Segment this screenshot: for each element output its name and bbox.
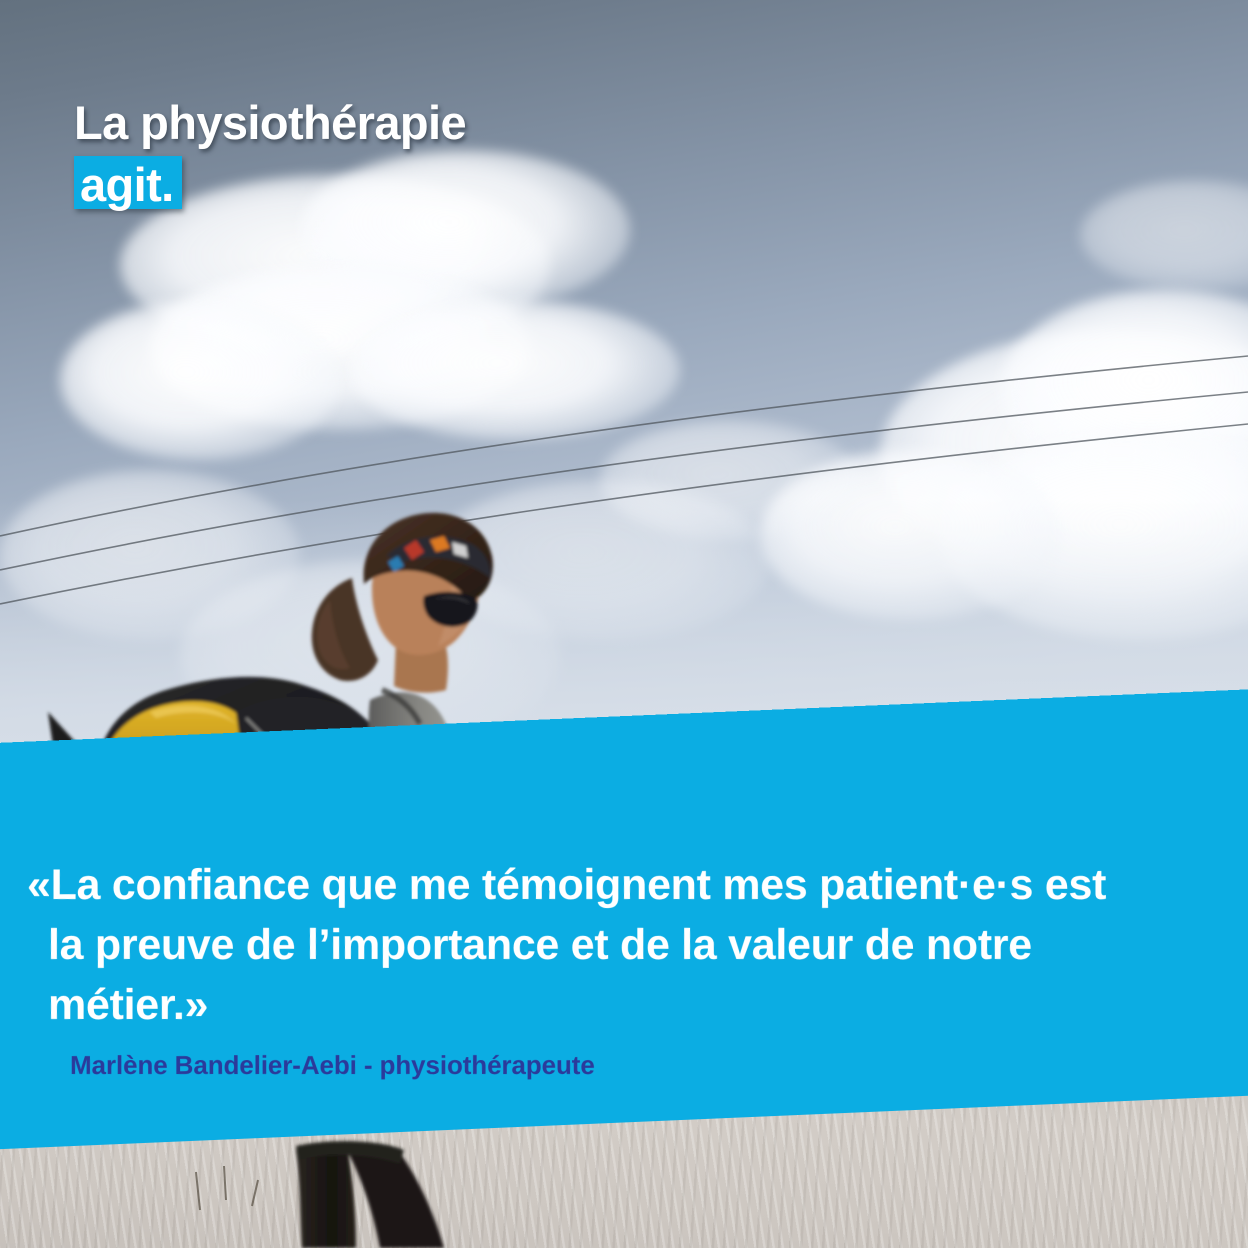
headline-line-1: La physiothérapie	[74, 96, 774, 151]
quote-text: «La confiance que me témoignent mes pati…	[48, 856, 1138, 1035]
headline-line-2-highlight: agit.	[74, 156, 182, 209]
quote-band-content: «La confiance que me témoignent mes pati…	[0, 746, 1173, 1152]
quote-band: «La confiance que me témoignent mes pati…	[0, 686, 1248, 1151]
quote-attribution: Marlène Bandelier-Aebi - physiothérapeut…	[70, 1050, 595, 1081]
headline-line-2-wrapper: agit.	[74, 156, 774, 209]
poster-canvas: La physiothérapie agit. «La confiance qu…	[0, 0, 1248, 1248]
headline: La physiothérapie agit.	[74, 96, 774, 209]
